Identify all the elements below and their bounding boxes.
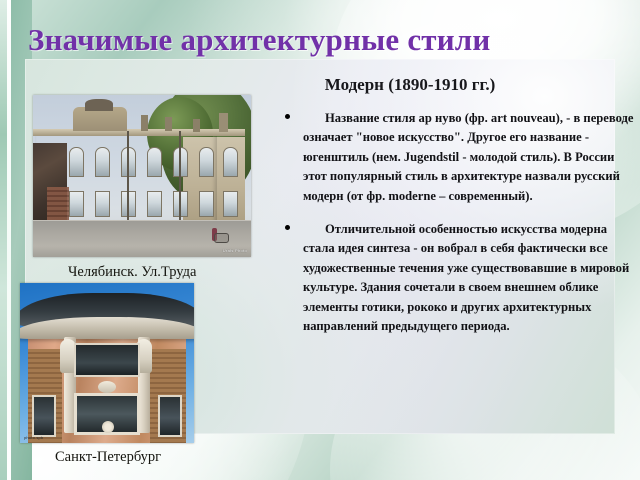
bullet-paragraph-2: Отличительной особенностью искусства мод… xyxy=(277,220,637,336)
frame-outer-stripe xyxy=(0,0,7,480)
photo-window xyxy=(95,191,110,217)
photo-medallion-ornament xyxy=(98,381,116,393)
photo-window xyxy=(199,191,214,217)
caption-saint-petersburg: Санкт-Петербург xyxy=(55,449,161,466)
photo-window xyxy=(147,191,162,217)
photo-bay-window xyxy=(74,343,140,377)
photo-window xyxy=(95,147,110,177)
photo-window xyxy=(223,191,238,217)
photo-lower-window-row xyxy=(69,191,239,217)
photo-drainpipe xyxy=(127,131,129,227)
photo-watermark: Urals Photo xyxy=(223,248,247,253)
photo-chimney xyxy=(219,113,228,132)
photo-watermark: photo.spb xyxy=(24,435,43,440)
photo-bicycle xyxy=(214,233,229,243)
photo-drainpipe xyxy=(179,131,181,227)
photo-rosette-ornament xyxy=(102,421,114,433)
photo-window xyxy=(223,147,238,177)
slide-title: Значимые архитектурные стили xyxy=(28,22,618,58)
caption-chelyabinsk: Челябинск. Ул.Труда xyxy=(68,264,196,281)
bullet-point-icon xyxy=(285,114,290,119)
photo-chimney xyxy=(165,117,172,131)
photo-chimney xyxy=(193,119,200,132)
section-heading: Модерн (1890-1910 гг.) xyxy=(215,74,605,95)
photo-window xyxy=(69,147,84,177)
slide-canvas: Значимые архитектурные стили Модерн (189… xyxy=(0,0,640,480)
photo-upper-window-row xyxy=(69,147,239,177)
photo-cornice xyxy=(20,317,194,339)
photo-saint-petersburg: photo.spb xyxy=(20,283,194,443)
photo-window xyxy=(147,147,162,177)
photo-pediment-crest xyxy=(85,99,113,111)
bullet-point-icon xyxy=(285,225,290,230)
photo-side-window-left xyxy=(32,395,56,437)
photo-chimney xyxy=(141,115,148,131)
photo-window xyxy=(69,191,84,217)
photo-window xyxy=(199,147,214,177)
photo-side-window-right xyxy=(158,395,182,437)
paragraph-text: Отличительной особенностью искусства мод… xyxy=(303,222,629,333)
bullet-paragraph-1: Название стиля ар нуво (фр. art nouveau)… xyxy=(277,109,637,206)
photo-cornice xyxy=(33,129,245,136)
photo-chelyabinsk: Urals Photo xyxy=(33,95,251,257)
paragraph-text: Название стиля ар нуво (фр. art nouveau)… xyxy=(303,111,634,203)
body-text-block: Название стиля ар нуво (фр. art nouveau)… xyxy=(277,109,637,350)
